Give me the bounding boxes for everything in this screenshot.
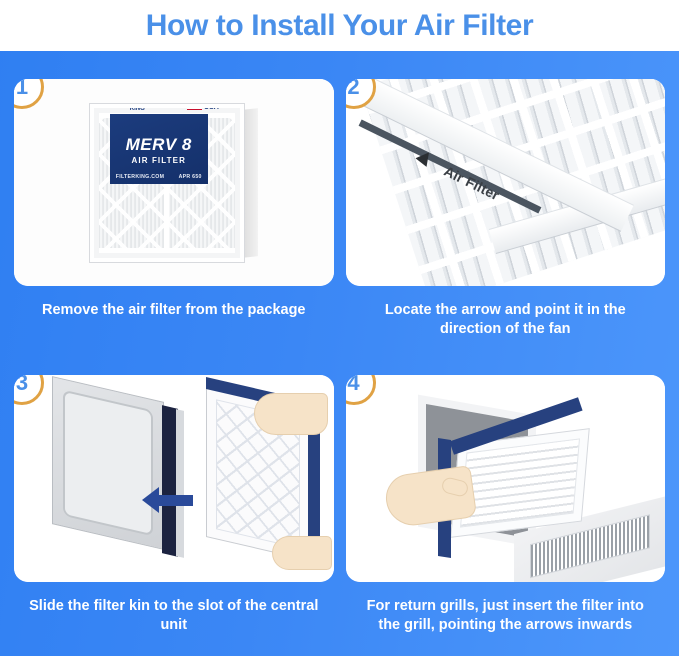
arrow-head-shape	[142, 487, 159, 513]
step-card-4: 4 For return grills	[346, 375, 666, 656]
step-card-2: 2 Air Filter Locate the arrow and point …	[346, 79, 666, 375]
merv8-filter-photo: FILTER KING MADE IN USA	[14, 79, 334, 286]
filter-side-face	[242, 108, 258, 258]
step-1-image-card: 1 FILTER	[14, 79, 334, 286]
header-bar: How to Install Your Air Filter	[0, 0, 679, 51]
central-unit-panel	[63, 390, 153, 537]
page-title: How to Install Your Air Filter	[146, 9, 533, 43]
hand-upper-icon	[254, 393, 328, 435]
central-unit-body	[52, 376, 164, 550]
step-2-caption: Locate the arrow and point it in the dir…	[346, 301, 666, 339]
steps-grid: 1 FILTER	[0, 51, 679, 656]
filter-brand-bar: FILTER KING MADE IN USA	[126, 104, 224, 114]
step-3-image-card: 3	[14, 375, 334, 582]
arrow-shaft-shape	[159, 495, 193, 506]
step-card-1: 1 FILTER	[14, 79, 334, 375]
step-4-image-card: 4	[346, 375, 666, 582]
infographic-page: How to Install Your Air Filter 1	[0, 0, 679, 656]
filter-product: FILTER KING MADE IN USA	[90, 104, 258, 262]
return-grill-illustration	[346, 375, 666, 582]
usa-flag-icon	[187, 104, 202, 111]
filter-corner-photo: Air Filter	[346, 79, 666, 286]
filter-label: FILTER KING MADE IN USA	[110, 114, 208, 184]
merv-rating-text: MERV 8	[126, 135, 192, 155]
step-1-caption: Remove the air filter from the package	[14, 301, 334, 320]
central-unit-slot-light-edge	[176, 409, 184, 558]
filter-king-logo: FILTER KING	[130, 104, 151, 112]
filterking-url-text: FILTERKING.COM	[116, 174, 164, 180]
brand-line-2: KING	[130, 106, 145, 112]
grill-louver-slats	[459, 438, 579, 527]
made-in-usa-text: MADE IN USA	[204, 104, 220, 111]
insert-direction-arrow-icon	[142, 487, 193, 513]
label-footer-row: FILTERKING.COM APR 650	[110, 174, 208, 180]
step-3-caption: Slide the filter kin to the slot of the …	[14, 597, 334, 635]
filter-front-face: FILTER KING MADE IN USA	[90, 104, 244, 262]
apr-rating-text: APR 650	[179, 174, 202, 180]
step-4-caption: For return grills, just insert the filte…	[346, 597, 666, 635]
air-filter-subtitle: AIR FILTER	[132, 156, 186, 165]
step-2-image-card: 2 Air Filter	[346, 79, 666, 286]
step-card-3: 3	[14, 375, 334, 656]
usa-text: USA	[204, 104, 219, 111]
made-in-usa-mark: MADE IN USA	[187, 104, 220, 111]
brand-line-1: FILTER	[130, 104, 151, 106]
hand-lower-icon	[272, 536, 332, 570]
slide-filter-illustration	[14, 375, 334, 582]
